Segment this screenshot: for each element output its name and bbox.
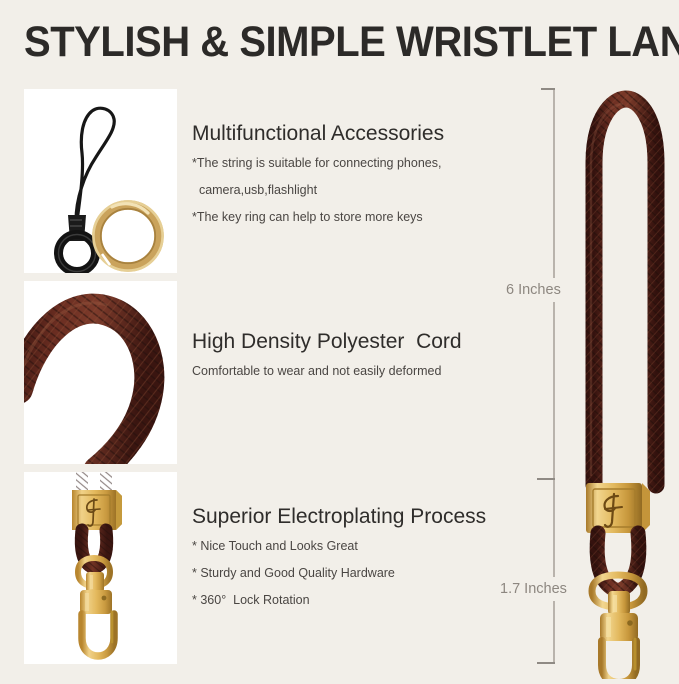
gold-hardware-icon [24, 472, 177, 664]
feature-heading: Multifunctional Accessories [192, 122, 444, 146]
feature-heading: Superior Electroplating Process [192, 505, 486, 529]
page-title: STYLISH & SIMPLE WRISTLET LANYARD [24, 20, 619, 64]
feature-line: * Sturdy and Good Quality Hardware [192, 566, 486, 580]
measurement-label-lower: 1.7 Inches [497, 577, 570, 601]
feature-line: camera,usb,flashlight [192, 183, 444, 197]
feature-line: * 360° Lock Rotation [192, 593, 486, 607]
thumbnail-gold-hardware [24, 472, 177, 664]
feature-line: *The key ring can help to store more key… [192, 210, 444, 224]
feature-line: Comfortable to wear and not easily defor… [192, 364, 462, 378]
feature-line: * Nice Touch and Looks Great [192, 539, 486, 553]
ruler-tick-bottom [537, 662, 555, 664]
feature-multifunctional-accessories: Multifunctional Accessories *The string … [192, 122, 444, 224]
phone-tether-and-key-ring-icon [24, 89, 177, 273]
feature-heading: High Density Polyester Cord [192, 330, 462, 354]
ruler-tick-top [541, 88, 555, 90]
wristlet-lanyard-illustration [560, 85, 679, 679]
feature-superior-electroplating-process: Superior Electroplating Process * Nice T… [192, 505, 486, 607]
product-photo-wristlet-lanyard [560, 85, 679, 679]
thumbnail-braided-cord [24, 281, 177, 464]
measurement-label-total: 6 Inches [503, 278, 564, 302]
ruler-tick-middle [537, 478, 555, 480]
feature-line: *The string is suitable for connecting p… [192, 156, 444, 170]
braided-cord-icon [24, 281, 177, 464]
thumbnail-phone-tether-and-key-ring [24, 89, 177, 273]
infographic-page: STYLISH & SIMPLE WRISTLET LANYARD [0, 0, 679, 679]
feature-high-density-polyester-cord: High Density Polyester Cord Comfortable … [192, 330, 462, 378]
